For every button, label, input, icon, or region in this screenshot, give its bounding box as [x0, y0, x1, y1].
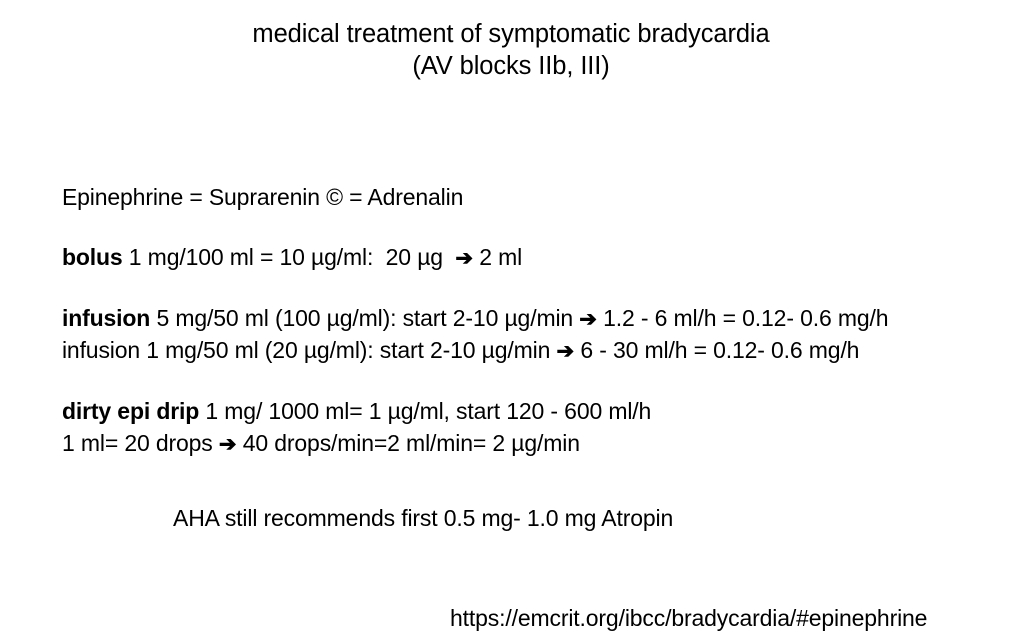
bolus-after-arrow-text: 2 ml — [473, 244, 522, 270]
epinephrine-synonyms-text: Epinephrine = Suprarenin © = Adrenalin — [62, 184, 463, 210]
infusion-2-before-arrow-text: infusion 1 mg/50 ml (20 µg/ml): start 2-… — [62, 337, 557, 363]
slide-title-line-2: (AV blocks IIb, III) — [0, 50, 1022, 82]
dirty-epi-drip-2-before-arrow-text: 1 ml= 20 drops — [62, 430, 219, 456]
right-arrow-icon: ➔ — [219, 433, 237, 456]
slide-title-line-1: medical treatment of symptomatic bradyca… — [0, 18, 1022, 50]
dirty-epi-drip-2-after-arrow-text: 40 drops/min=2 ml/min= 2 µg/min — [237, 430, 580, 456]
aha-recommendation-note: AHA still recommends first 0.5 mg- 1.0 m… — [173, 503, 673, 533]
right-arrow-icon: ➔ — [455, 247, 473, 270]
infusion-2-after-arrow-text: 6 - 30 ml/h = 0.12- 0.6 mg/h — [574, 337, 859, 363]
dirty-epi-drip-line-2: 1 ml= 20 drops ➔ 40 drops/min=2 ml/min= … — [37, 398, 580, 490]
source-url-link[interactable]: https://emcrit.org/ibcc/bradycardia/#epi… — [450, 603, 927, 633]
slide-title: medical treatment of symptomatic bradyca… — [0, 18, 1022, 82]
bolus-label: bolus — [62, 244, 123, 270]
slide-canvas: medical treatment of symptomatic bradyca… — [0, 0, 1022, 639]
right-arrow-icon: ➔ — [557, 340, 575, 363]
bolus-before-arrow-text: 1 mg/100 ml = 10 µg/ml: 20 µg — [123, 244, 456, 270]
